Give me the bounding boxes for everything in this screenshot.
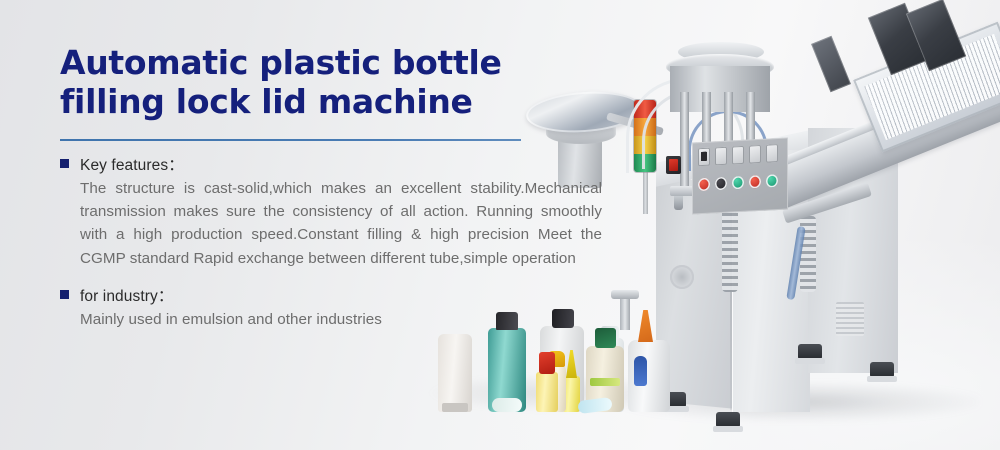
green-label [590, 378, 620, 386]
filling-head-column [680, 92, 689, 188]
magazine-dark-panel [811, 36, 851, 92]
selector-knob [715, 147, 727, 166]
page-title: Automatic plastic bottle filling lock li… [60, 44, 560, 122]
push-button-green [766, 174, 778, 188]
stack-light-pole [643, 168, 648, 214]
section-label: for industry： [80, 287, 173, 306]
title-divider [60, 139, 521, 141]
blue-label [634, 356, 647, 386]
section-body: Mainly used in emulsion and other indust… [80, 308, 602, 331]
cabinet-vent-grille [836, 302, 864, 336]
leveling-foot [798, 344, 822, 360]
emergency-stop-switch [666, 156, 681, 174]
selector-knob [732, 146, 744, 165]
red-cap-small-bottle [536, 372, 558, 412]
section-body: The structure is cast-solid,which makes … [80, 177, 602, 269]
leveling-foot [870, 362, 894, 378]
bullet-line: for industry： [60, 287, 605, 306]
push-button-green [732, 176, 744, 190]
push-button-red [698, 178, 710, 192]
filling-nozzle [674, 196, 683, 210]
bullet-square-icon [60, 290, 69, 299]
spring-coil-guard [722, 206, 738, 292]
push-button-red [749, 175, 761, 189]
selector-knob [749, 145, 761, 164]
section-label: Key features： [80, 156, 184, 175]
fan-grille-icon [670, 265, 694, 289]
flat-sachet [492, 398, 522, 412]
cream-tube [438, 334, 472, 412]
section-for-industry: for industry： Mainly used in emulsion an… [60, 287, 605, 331]
selector-knob [766, 144, 778, 163]
text-column: Automatic plastic bottle filling lock li… [60, 44, 605, 331]
section-key-features: Key features： The structure is cast-soli… [60, 156, 605, 270]
leveling-foot [716, 412, 740, 428]
push-button-black [715, 177, 727, 191]
bullet-line: Key features： [60, 156, 605, 175]
bullet-square-icon [60, 159, 69, 168]
product-banner: Automatic plastic bottle filling lock li… [0, 0, 1000, 450]
